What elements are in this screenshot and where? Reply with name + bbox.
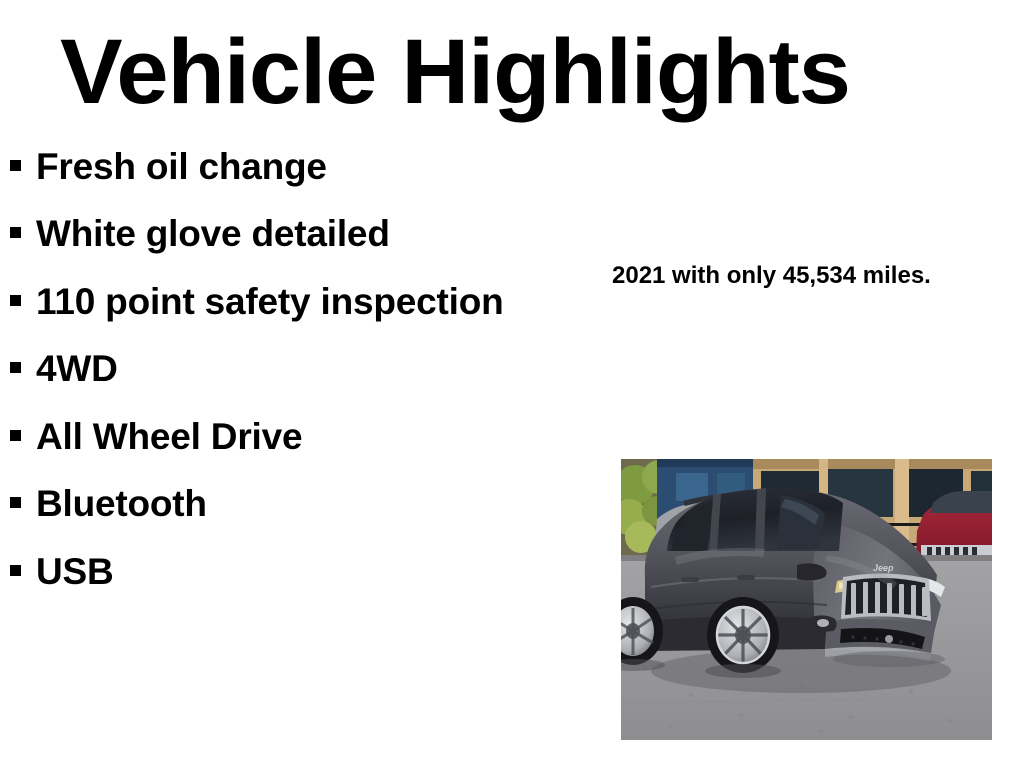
list-item: USB (6, 551, 566, 592)
list-item-label: USB (36, 551, 114, 592)
list-item-label: 110 point safety inspection (36, 281, 504, 322)
vehicle-highlights-list: Fresh oil change White glove detailed 11… (6, 146, 566, 592)
list-item: Fresh oil change (6, 146, 566, 187)
list-item: 110 point safety inspection (6, 281, 566, 322)
square-bullet-icon (10, 565, 21, 576)
square-bullet-icon (10, 430, 21, 441)
square-bullet-icon (10, 160, 21, 171)
list-item-label: 4WD (36, 348, 118, 389)
page-title: Vehicle Highlights (60, 26, 998, 118)
list-item-label: Fresh oil change (36, 146, 327, 187)
mileage-note: 2021 with only 45,534 miles. (612, 260, 992, 291)
list-item: White glove detailed (6, 213, 566, 254)
vehicle-photo-illustration: Jeep (621, 459, 992, 740)
list-item-label: All Wheel Drive (36, 416, 302, 457)
list-item: Bluetooth (6, 483, 566, 524)
list-item-label: White glove detailed (36, 213, 390, 254)
list-item: All Wheel Drive (6, 416, 566, 457)
square-bullet-icon (10, 497, 21, 508)
list-item-label: Bluetooth (36, 483, 207, 524)
square-bullet-icon (10, 362, 21, 373)
square-bullet-icon (10, 295, 21, 306)
list-item: 4WD (6, 348, 566, 389)
slide-canvas: Vehicle Highlights Fresh oil change Whit… (0, 0, 1024, 768)
vehicle-photo: Jeep (621, 459, 992, 740)
square-bullet-icon (10, 227, 21, 238)
